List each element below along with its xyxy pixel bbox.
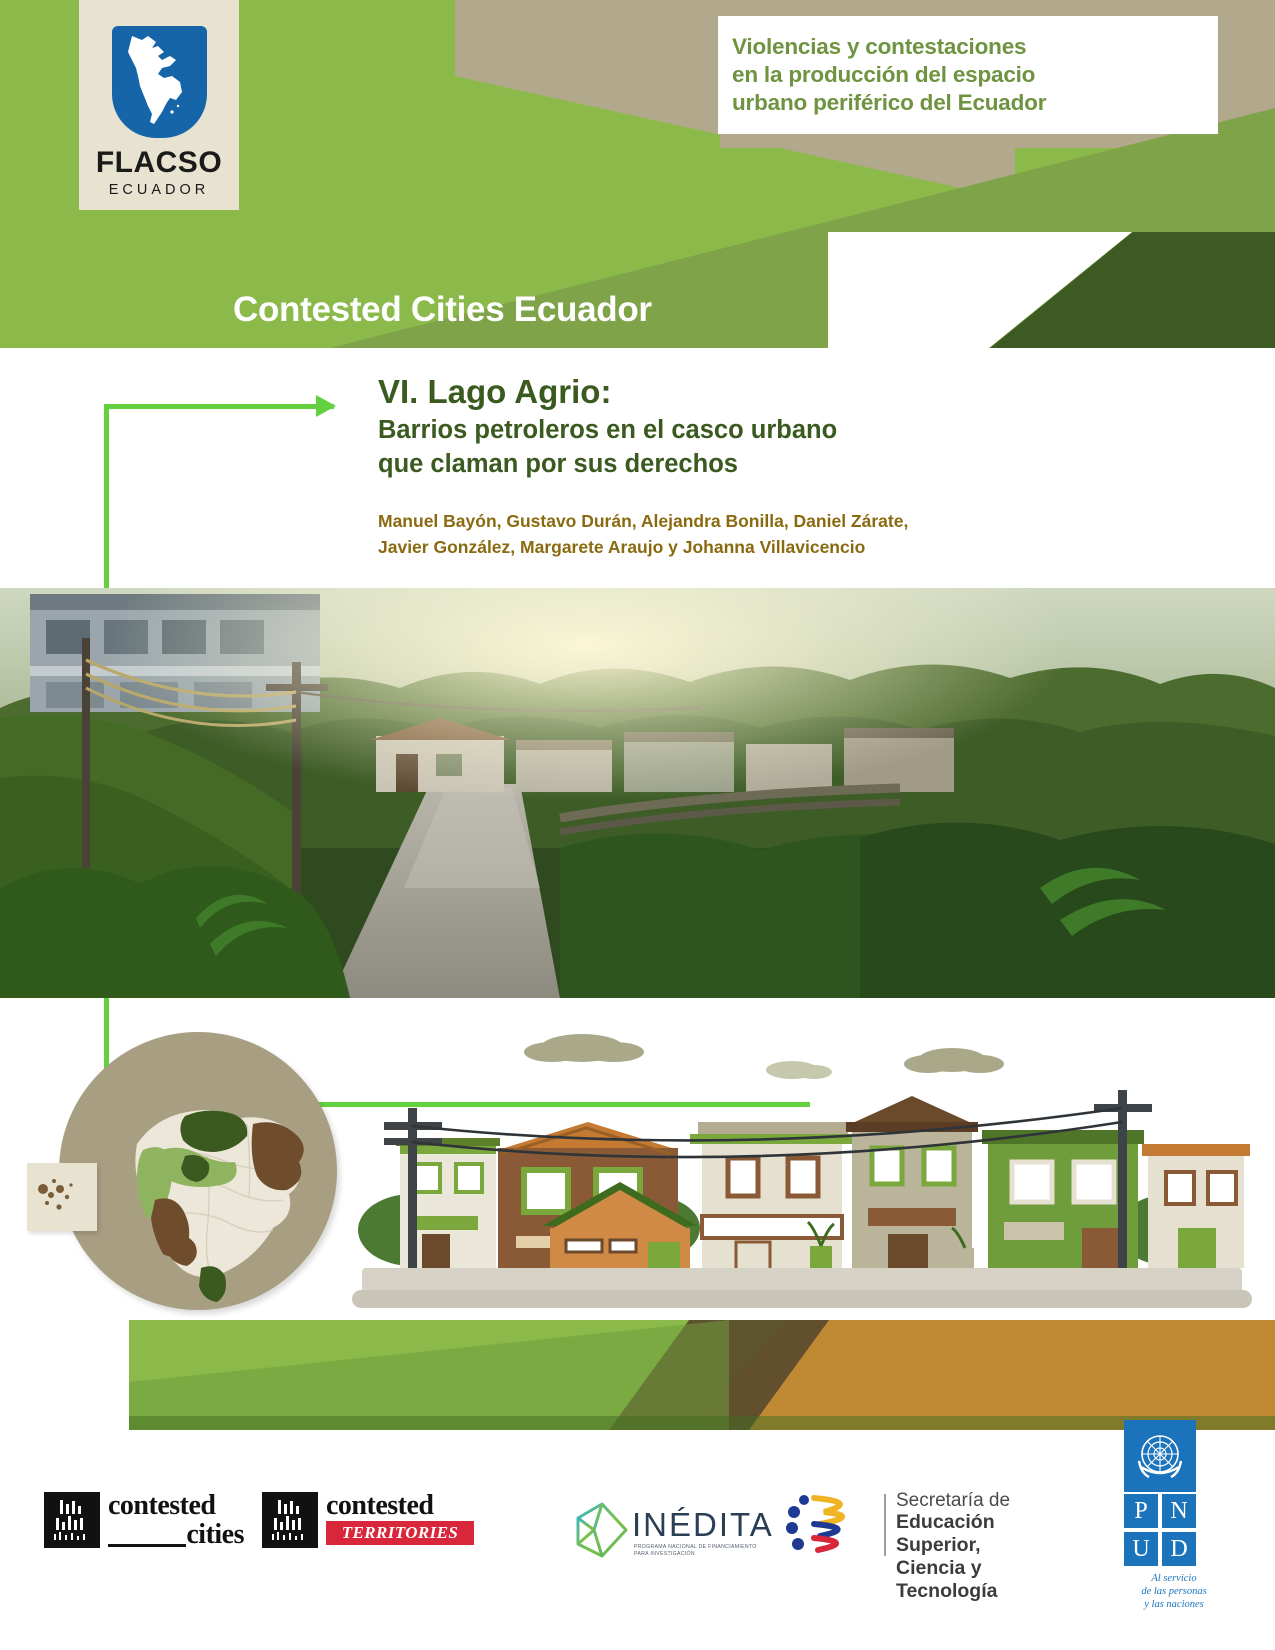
inedita-fine-line-2: PARA INVESTIGACIÓN [634, 1551, 757, 1558]
senescyt-line-1: Secretaría de [896, 1490, 1010, 1512]
ecuador-provinces-map [59, 1032, 337, 1310]
flacso-logo: FLACSO ECUADOR [79, 0, 239, 210]
page-subtitle-line-2: que claman por sus derechos [378, 448, 1138, 480]
senescyt-lines-2-3: Educación Superior, Ciencia y Tecnología [896, 1511, 1044, 1603]
page-title: VI. Lago Agrio: [378, 372, 1138, 412]
pnud-letter-p: P [1124, 1494, 1158, 1528]
pnud-letter-d: D [1162, 1532, 1196, 1566]
pointer-arrow-horizontal [104, 404, 334, 409]
pnud-letter-n: N [1162, 1494, 1196, 1528]
pointer-arrow-head-icon [316, 395, 336, 417]
senescyt-divider [884, 1494, 886, 1556]
authors-line-2: Javier González, Margarete Araujo y Joha… [378, 534, 1138, 560]
title-block: VI. Lago Agrio: Barrios petroleros en el… [378, 372, 1138, 560]
senescyt-line-2: Educación Superior, [896, 1511, 1044, 1557]
pnud-tagline-line-3: y las naciones [1114, 1598, 1234, 1611]
inedita-prism-icon [572, 1500, 632, 1562]
bottom-decorative-band [129, 1320, 1275, 1430]
contested-territories-logo: contested TERRITORIES [262, 1492, 472, 1554]
contested-cities-word-1: contested [108, 1490, 215, 1522]
header-title-box: Violencias y contestaciones en la produc… [718, 16, 1218, 134]
pnud-letter-grid: P N U D [1124, 1494, 1196, 1566]
inedita-logo: INÉDITA PROGRAMA NACIONAL DE FINANCIAMIE… [572, 1500, 772, 1570]
ecuador-locator-map [13, 1020, 363, 1310]
header-title-line-3: urbano periférico del Ecuador [732, 89, 1218, 117]
neighborhood-illustration [352, 1030, 1252, 1320]
pnud-tagline: Al servicio de las personas y las nacion… [1114, 1572, 1234, 1611]
ecuador-flag-swirl-icon [784, 1490, 880, 1560]
pnud-logo: P N U D Al servicio de las personas y la… [1118, 1420, 1238, 1620]
series-banner-title: Contested Cities Ecuador [233, 290, 652, 330]
page-subtitle-line-1: Barrios petroleros en el casco urbano [378, 414, 1138, 446]
contested-cities-logo: contested cities [44, 1492, 244, 1554]
contested-territories-word-2: TERRITORIES [342, 1523, 459, 1543]
territories-badge: TERRITORIES [326, 1521, 474, 1545]
authors-line-1: Manuel Bayón, Gustavo Durán, Alejandra B… [378, 508, 1138, 534]
header-title-line-1: Violencias y contestaciones [732, 33, 1218, 61]
city-skyline-icon [44, 1492, 100, 1548]
inedita-fine-line-1: PROGRAMA NACIONAL DE FINANCIAMIENTO [634, 1544, 757, 1551]
city-skyline-icon [262, 1492, 318, 1548]
united-nations-emblem-icon [1124, 1420, 1196, 1492]
pnud-letter-u: U [1124, 1532, 1158, 1566]
pnud-tagline-line-2: de las personas [1114, 1585, 1234, 1598]
contested-territories-word-1: contested [326, 1490, 433, 1522]
flacso-country-label: ECUADOR [109, 182, 210, 198]
pnud-tagline-line-1: Al servicio [1114, 1572, 1234, 1585]
flacso-wordmark: FLACSO [96, 148, 222, 178]
header-title-line-2: en la producción del espacio [732, 61, 1218, 89]
latin-america-map-icon [112, 26, 207, 138]
inedita-fine-print: PROGRAMA NACIONAL DE FINANCIAMIENTO PARA… [634, 1544, 757, 1558]
senescyt-logo: Secretaría de Educación Superior, Cienci… [784, 1490, 1044, 1570]
senescyt-line-3: Ciencia y Tecnología [896, 1557, 1044, 1603]
cover-photograph [0, 588, 1275, 998]
contested-cities-word-2: cities [108, 1519, 244, 1551]
inedita-wordmark: INÉDITA [632, 1506, 774, 1544]
cover-page: Violencias y contestaciones en la produc… [0, 0, 1275, 1650]
